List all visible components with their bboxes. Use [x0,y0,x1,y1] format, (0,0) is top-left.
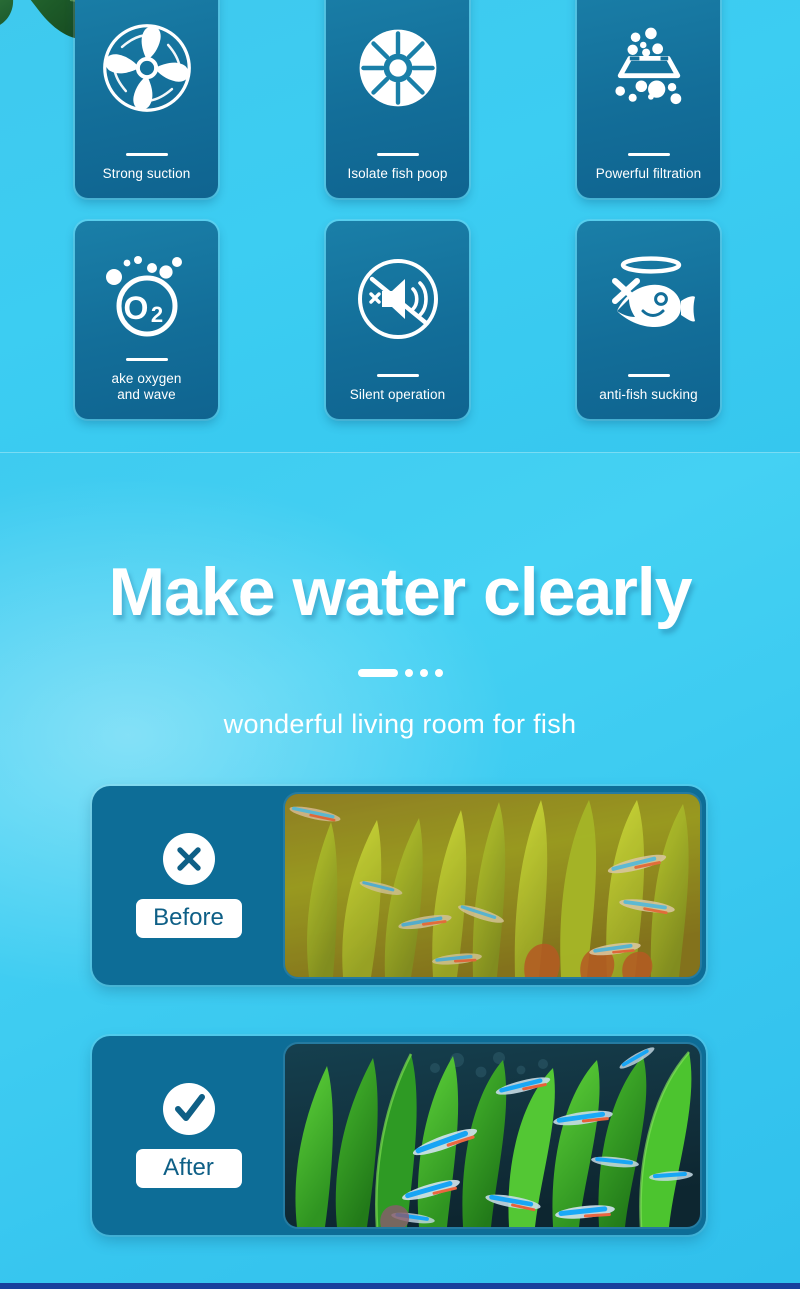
state-badge-after: After [136,1149,242,1188]
feature-card-label: ake oxygen and wave [111,371,181,403]
card-rule [628,374,670,377]
dead-fish-halo-icon [599,249,699,349]
state-badge-before: Before [136,899,242,938]
feature-card-silent-operation[interactable]: Silent operation [326,221,469,419]
impeller-wheel-icon [350,20,446,116]
card-rule [377,153,419,156]
feature-cards-grid: Strong suction [75,0,725,419]
feature-card-anti-fish-sucking[interactable]: anti-fish sucking [577,221,720,419]
propeller-fan-icon [99,20,195,116]
feature-card-make-oxygen-and-wave[interactable]: O 2 ake oxygen and wave [75,221,218,419]
compare-panel-after: After [92,1036,706,1235]
page-title: Make water clearly [0,553,800,631]
product-detail-page: Strong suction [0,0,800,1289]
feature-card-label: Silent operation [350,387,445,403]
card-rule [126,358,168,361]
card-rule [126,153,168,156]
svg-text:2: 2 [150,302,162,327]
feature-card-label: Strong suction [103,166,191,182]
filter-mesh-particles-icon [601,20,697,116]
feature-card-label: Isolate fish poop [347,166,447,182]
feature-card-strong-suction[interactable]: Strong suction [75,0,218,198]
panel-side-before: Before [92,786,285,985]
svg-text:O: O [123,290,148,326]
divider-dot [420,669,428,677]
feature-card-powerful-filtration[interactable]: Powerful filtration [577,0,720,198]
before-aquarium-photo [285,794,700,977]
headline-divider [0,669,800,677]
check-mark-icon [163,1083,215,1135]
features-section: Strong suction [0,0,800,452]
bottom-accent-bar [0,1283,800,1289]
muted-speaker-icon [348,249,448,349]
cross-mark-icon [163,833,215,885]
compare-panel-before: Before [92,786,706,985]
after-aquarium-photo [285,1044,700,1227]
hero-section: Make water clearly wonderful living room… [0,453,800,1283]
card-rule [628,153,670,156]
card-rule [377,374,419,377]
divider-dash [358,669,398,677]
divider-dot [435,669,443,677]
panel-side-after: After [92,1036,285,1235]
o2-bubbles-icon: O 2 [97,249,197,349]
page-subtitle: wonderful living room for fish [0,709,800,740]
feature-card-label: anti-fish sucking [599,387,698,403]
feature-cards-row-1: Strong suction [75,0,725,198]
divider-dot [405,669,413,677]
feature-card-isolate-fish-poop[interactable]: Isolate fish poop [326,0,469,198]
feature-card-label: Powerful filtration [596,166,701,182]
feature-cards-row-2: O 2 ake oxygen and wave [75,221,725,419]
